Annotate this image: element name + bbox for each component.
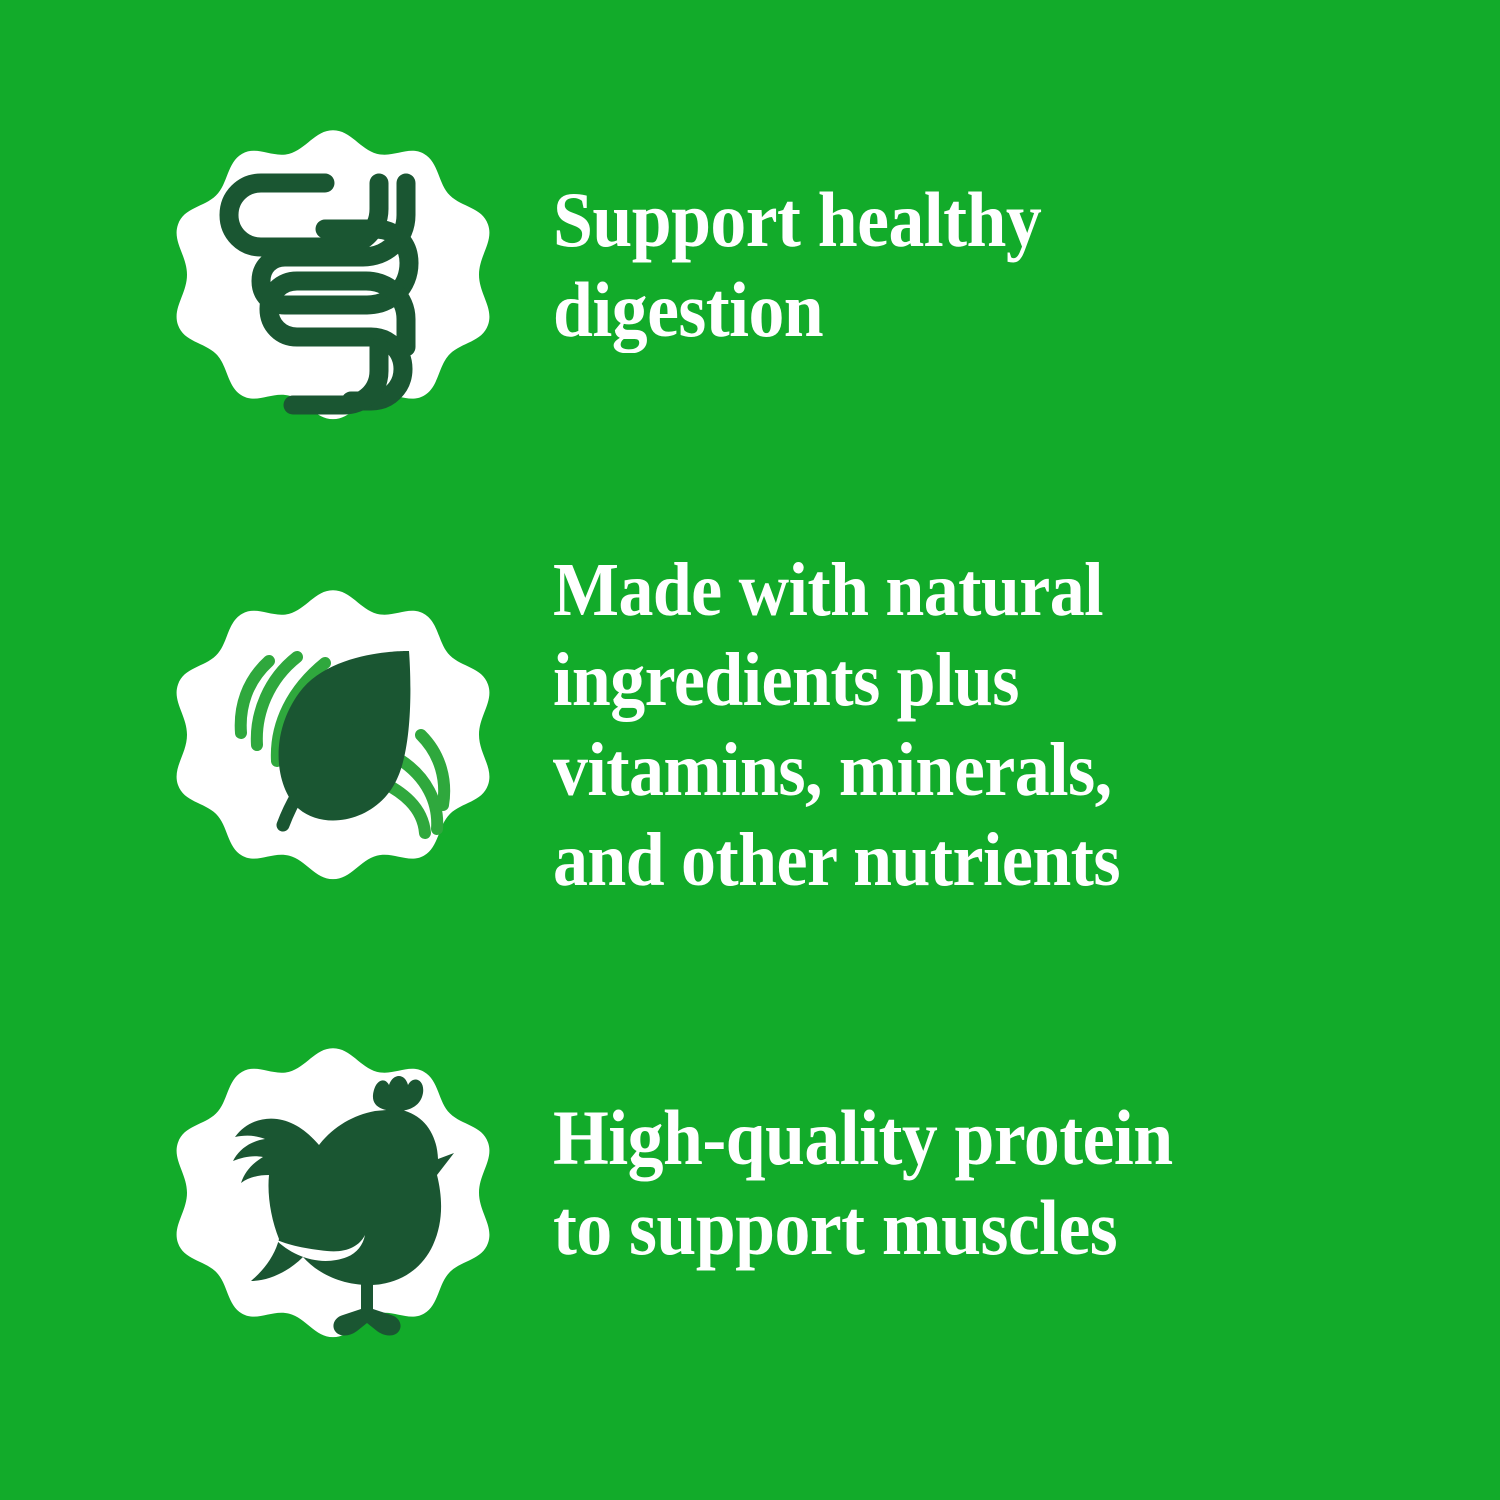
benefit-text-digestion: Support healthy digestion (553, 175, 1424, 355)
benefit-row: High-quality protein to support muscles (0, 1022, 1500, 1344)
benefit-row: Support healthy digestion (0, 105, 1500, 425)
benefits-panel: Support healthy digestion (0, 0, 1500, 1500)
benefit-text-protein: High-quality protein to support muscles (553, 1093, 1424, 1273)
badge-chicken (175, 1023, 491, 1343)
benefit-text-ingredients: Made with natural ingredients plus vitam… (553, 545, 1424, 905)
badge-intestine (175, 105, 491, 425)
benefit-row: Made with natural ingredients plus vitam… (0, 565, 1500, 885)
badge-leaf (175, 565, 491, 885)
